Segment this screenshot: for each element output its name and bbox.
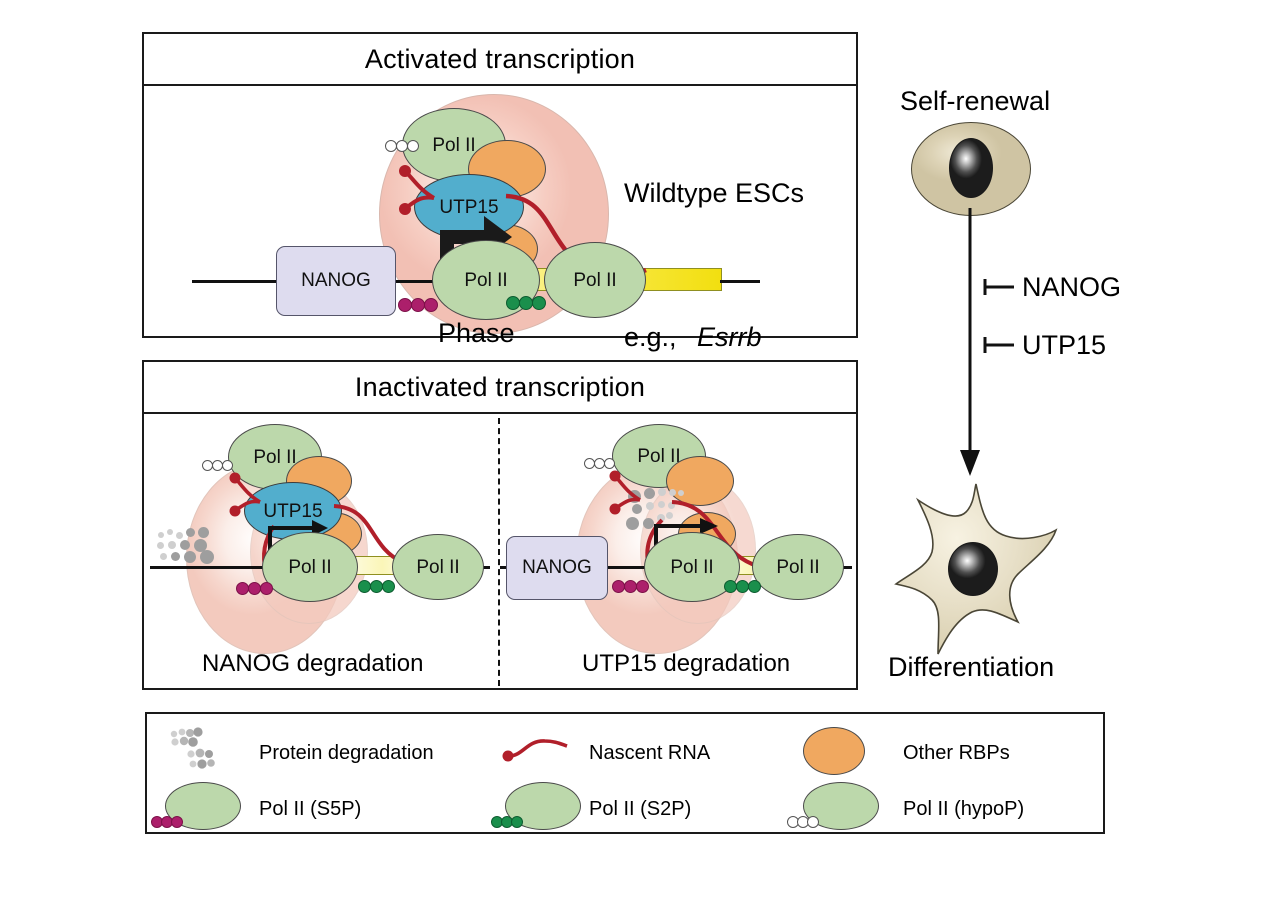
panel-activated-body: NANOG Pol II UTP15 <box>144 86 856 336</box>
legend-label-protein-degradation: Protein degradation <box>259 742 434 765</box>
legend-label-pol-ii-hypop: Pol II (hypoP) <box>903 798 1024 821</box>
subpanel-nanog-degradation: Pol II UTP15 <box>144 414 498 686</box>
nanog-label: NANOG <box>522 557 592 579</box>
panel-activated-header: Activated transcription <box>144 34 856 86</box>
degradation-dot <box>168 541 176 549</box>
figure-canvas: Activated transcription NANOG Pol II <box>0 0 1268 902</box>
dna-strand-right <box>720 280 760 283</box>
ctd-s2p-bead <box>511 816 523 828</box>
degradation-dot <box>158 532 164 538</box>
degradation-dot <box>160 553 167 560</box>
esc-nucleus <box>949 138 993 198</box>
phase-label: Phase <box>438 318 515 349</box>
other-rbps-icon <box>803 727 865 775</box>
panel-activated-transcription: Activated transcription NANOG Pol II <box>142 32 858 338</box>
condition-label: Wildtype ESCs <box>624 178 804 209</box>
example-gene: Esrrb <box>697 322 762 353</box>
subpanel-caption-nanog-degradation: NANOG degradation <box>202 650 423 678</box>
fate-axis: Self-renewal NANOG UTP15 <box>876 80 1176 700</box>
pol-ii-label: Pol II <box>288 558 331 577</box>
ctd-s2p-bead <box>519 296 533 310</box>
ctd-s5p-bead <box>260 582 273 595</box>
pol-ii-label: Pol II <box>670 558 713 577</box>
differentiated-cell-nucleus <box>948 542 998 596</box>
inhibition-bar-nanog <box>982 276 1018 298</box>
legend-label-pol-ii-s2p: Pol II (S2P) <box>589 798 691 821</box>
panel-inactivated-transcription: Inactivated transcription <box>142 360 858 690</box>
subpanel-utp15-degradation: NANOG Pol II <box>500 414 856 686</box>
pol-ii-s2p: Pol II <box>752 534 844 600</box>
ctd-s2p-bead <box>748 580 761 593</box>
ctd-s5p-bead <box>636 580 649 593</box>
panel-inactivated-body: Pol II UTP15 <box>144 414 856 688</box>
inhibitor-utp15-label: UTP15 <box>1022 330 1106 361</box>
legend-label-pol-ii-s5p: Pol II (S5P) <box>259 798 361 821</box>
example-prefix: e.g., <box>624 322 677 353</box>
pol-ii-label: Pol II <box>464 271 507 290</box>
ctd-s2p-bead <box>382 580 395 593</box>
panel-activated-title: Activated transcription <box>365 44 635 75</box>
ctd-s2p-bead <box>532 296 546 310</box>
ctd-hypop-bead <box>222 460 233 471</box>
degradation-dot <box>180 540 190 550</box>
nascent-rna-icon <box>497 734 573 768</box>
inhibition-bar-utp15 <box>982 334 1018 356</box>
pol-ii-label: Pol II <box>416 558 459 577</box>
panel-inactivated-title: Inactivated transcription <box>355 372 645 403</box>
degradation-dot <box>176 532 183 539</box>
pol-ii-s5p: Pol II <box>262 532 358 602</box>
nanog-label: NANOG <box>301 270 371 292</box>
pol-ii-label: Pol II <box>253 448 296 467</box>
degradation-dot <box>186 528 195 537</box>
ctd-s5p-bead <box>411 298 425 312</box>
pol-ii-label: Pol II <box>432 136 475 155</box>
legend-box: Protein degradation Nascent RNA Other RB… <box>145 712 1105 834</box>
pol-ii-s2p: Pol II <box>392 534 484 600</box>
pol-ii-label: Pol II <box>637 447 680 466</box>
self-renewal-label: Self-renewal <box>900 86 1050 117</box>
ctd-hypop-bead <box>604 458 615 469</box>
nanog-box: NANOG <box>276 246 396 316</box>
degradation-dot <box>669 489 676 496</box>
ctd-hypop-bead <box>407 140 419 152</box>
pol-ii-label: Pol II <box>573 271 616 290</box>
degradation-dot <box>167 529 173 535</box>
degradation-dot <box>184 551 196 563</box>
protein-degradation-icon <box>165 726 229 776</box>
ctd-s5p-bead <box>171 816 183 828</box>
ctd-s5p-bead <box>398 298 412 312</box>
degradation-dot <box>171 552 180 561</box>
differentiation-label: Differentiation <box>888 652 1054 683</box>
degradation-dot <box>198 527 209 538</box>
degradation-dot <box>157 542 164 549</box>
inhibitor-nanog-label: NANOG <box>1022 272 1121 303</box>
pol-ii-label: Pol II <box>776 558 819 577</box>
legend-label-other-rbps: Other RBPs <box>903 742 1010 765</box>
ctd-s2p-bead <box>506 296 520 310</box>
nanog-box: NANOG <box>506 536 608 600</box>
legend-label-nascent-rna: Nascent RNA <box>589 742 710 765</box>
panel-inactivated-header: Inactivated transcription <box>144 362 856 414</box>
ctd-hypop-bead <box>807 816 819 828</box>
degradation-dot <box>200 550 214 564</box>
ctd-s5p-bead <box>424 298 438 312</box>
subpanel-caption-utp15-degradation: UTP15 degradation <box>582 650 790 678</box>
pol-ii-s2p: Pol II <box>544 242 646 318</box>
